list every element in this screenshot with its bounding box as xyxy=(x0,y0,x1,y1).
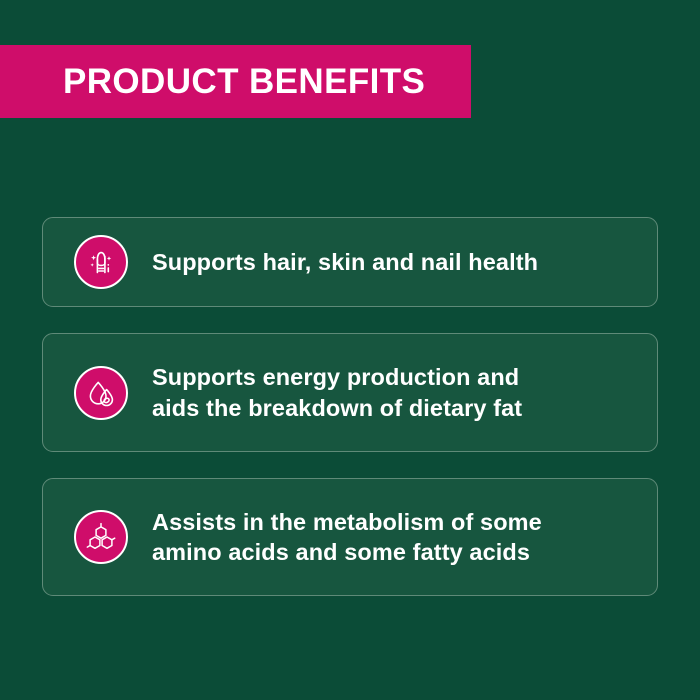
benefit-card-3: Assists in the metabolism of some amino … xyxy=(42,478,658,596)
molecule-hexagons-icon xyxy=(74,510,128,564)
benefit-card-1: Supports hair, skin and nail health xyxy=(42,217,658,307)
header-banner: PRODUCT BENEFITS xyxy=(0,45,471,118)
page-title: PRODUCT BENEFITS xyxy=(63,64,425,99)
benefit-text-1: Supports hair, skin and nail health xyxy=(152,247,552,277)
product-benefits-panel: PRODUCT BENEFITS xyxy=(0,0,700,700)
benefits-list: Supports hair, skin and nail health Supp… xyxy=(42,217,658,596)
benefit-text-3: Assists in the metabolism of some amino … xyxy=(152,507,556,567)
benefit-card-2: Supports energy production and aids the … xyxy=(42,333,658,452)
fingernail-sparkle-icon xyxy=(74,235,128,289)
benefit-text-2: Supports energy production and aids the … xyxy=(152,362,536,422)
droplets-icon xyxy=(74,366,128,420)
